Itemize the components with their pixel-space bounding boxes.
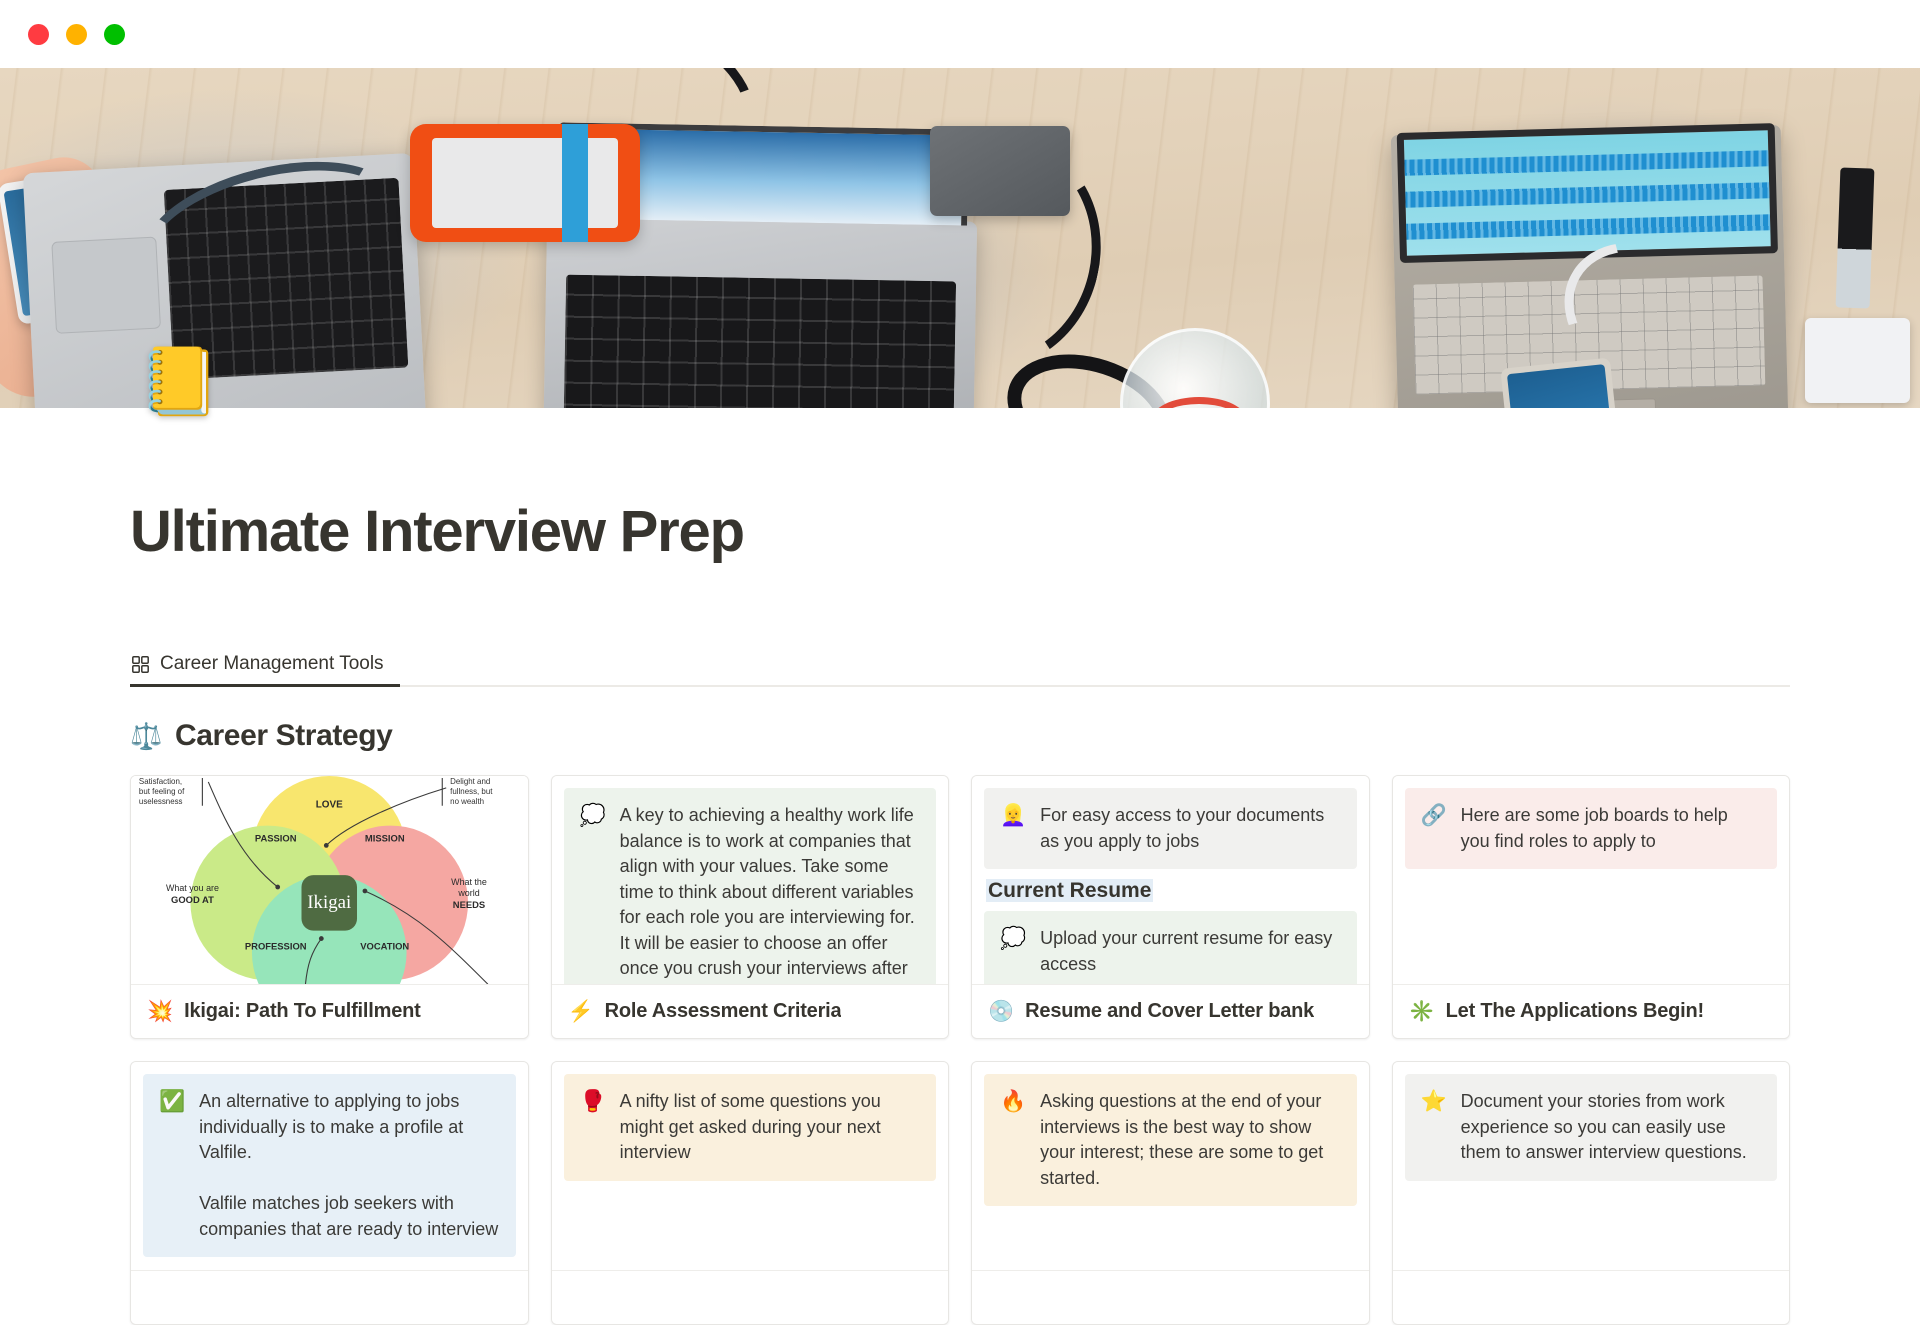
card-title: Let The Applications Begin! bbox=[1446, 1000, 1704, 1023]
card-footer: 💥 Ikigai: Path To Fulfillment bbox=[131, 984, 528, 1038]
close-button[interactable] bbox=[28, 24, 49, 45]
card-let-the-applications-begin[interactable]: 🔗 Here are some job boards to help you f… bbox=[1392, 775, 1791, 1039]
card-preview: 🔗 Here are some job boards to help you f… bbox=[1393, 776, 1790, 984]
card-title: Resume and Cover Letter bank bbox=[1025, 1000, 1314, 1023]
svg-text:Satisfaction,: Satisfaction, bbox=[139, 777, 182, 786]
page-title: Ultimate Interview Prep bbox=[130, 498, 1790, 565]
star-icon: ⭐ bbox=[1421, 1089, 1447, 1166]
grid-icon bbox=[132, 656, 149, 673]
callout-text: Document your stories from work experien… bbox=[1461, 1089, 1761, 1166]
woman-with-laptop-icon: 👱‍♀️ bbox=[1000, 803, 1026, 854]
asus-dongle-graphic bbox=[1805, 318, 1910, 403]
card-preview: 👱‍♀️ For easy access to your documents a… bbox=[972, 776, 1369, 984]
svg-text:GOOD AT: GOOD AT bbox=[171, 894, 214, 905]
svg-text:world: world bbox=[457, 888, 479, 898]
page-cover-image[interactable] bbox=[0, 68, 1920, 408]
card-questions-to-ask[interactable]: 🔥 Asking questions at the end of your in… bbox=[971, 1061, 1370, 1325]
card-preview: Ikigai LOVE PASSION MISSION PROFESSION V… bbox=[131, 776, 528, 984]
svg-text:MISSION: MISSION bbox=[365, 832, 405, 843]
svg-text:PROFESSION: PROFESSION bbox=[245, 940, 307, 951]
svg-text:NEEDS: NEEDS bbox=[453, 899, 485, 910]
card-footer: 💿 Resume and Cover Letter bank bbox=[972, 984, 1369, 1038]
page-body: Ultimate Interview Prep Career Managemen… bbox=[0, 408, 1920, 1325]
card-interview-questions[interactable]: 🥊 A nifty list of some questions you mig… bbox=[551, 1061, 950, 1325]
window-title-bar bbox=[0, 0, 1920, 68]
card-footer bbox=[972, 1270, 1369, 1324]
card-preview: 🥊 A nifty list of some questions you mig… bbox=[552, 1062, 949, 1270]
sub-heading: Current Resume bbox=[986, 879, 1153, 903]
svg-text:Delight and: Delight and bbox=[450, 777, 490, 786]
card-footer bbox=[552, 1270, 949, 1324]
ikigai-venn-diagram: Ikigai LOVE PASSION MISSION PROFESSION V… bbox=[131, 776, 528, 984]
fire-icon: 🔥 bbox=[1000, 1089, 1026, 1191]
card-valfile[interactable]: ✅ An alternative to applying to jobs ind… bbox=[130, 1061, 529, 1325]
scales-icon: ⚖️ bbox=[130, 723, 162, 749]
card-ikigai[interactable]: Ikigai LOVE PASSION MISSION PROFESSION V… bbox=[130, 775, 529, 1039]
card-footer: ✳️ Let The Applications Begin! bbox=[1393, 984, 1790, 1038]
lightning-icon: ⚡ bbox=[568, 1001, 594, 1022]
callout-text: A key to achieving a healthy work life b… bbox=[620, 803, 920, 984]
eight-spoked-asterisk-icon: ✳️ bbox=[1409, 1001, 1435, 1022]
card-stories[interactable]: ⭐ Document your stories from work experi… bbox=[1392, 1061, 1791, 1325]
link-icon: 🔗 bbox=[1421, 803, 1447, 854]
sub-heading-text: Current Resume bbox=[986, 879, 1153, 902]
card-footer bbox=[1393, 1270, 1790, 1324]
thought-balloon-icon: 💭 bbox=[580, 803, 606, 984]
callout-block: 🥊 A nifty list of some questions you mig… bbox=[564, 1074, 937, 1181]
svg-text:no wealth: no wealth bbox=[450, 797, 484, 806]
svg-text:but feeling of: but feeling of bbox=[139, 787, 185, 796]
callout-text: Asking questions at the end of your inte… bbox=[1040, 1089, 1340, 1191]
card-role-assessment-criteria[interactable]: 💭 A key to achieving a healthy work life… bbox=[551, 775, 950, 1039]
callout-text: A nifty list of some questions you might… bbox=[620, 1089, 920, 1166]
callout-text: Here are some job boards to help you fin… bbox=[1461, 803, 1761, 854]
card-preview: ⭐ Document your stories from work experi… bbox=[1393, 1062, 1790, 1270]
callout-block: 🔗 Here are some job boards to help you f… bbox=[1405, 788, 1778, 869]
card-footer: ⚡ Role Assessment Criteria bbox=[552, 984, 949, 1038]
desk-photo bbox=[0, 68, 1920, 408]
traffic-lights bbox=[28, 24, 125, 45]
svg-text:VOCATION: VOCATION bbox=[360, 940, 409, 951]
collision-icon: 💥 bbox=[147, 1001, 173, 1022]
svg-text:PASSION: PASSION bbox=[255, 832, 297, 843]
card-footer bbox=[131, 1270, 528, 1324]
section-title: Career Strategy bbox=[175, 719, 392, 753]
callout-block: 💭 A key to achieving a healthy work life… bbox=[564, 788, 937, 984]
optical-disk-icon: 💿 bbox=[988, 1001, 1014, 1022]
tab-bar: Career Management Tools bbox=[130, 643, 1790, 687]
callout-block: ⭐ Document your stories from work experi… bbox=[1405, 1074, 1778, 1181]
callout-text: Upload your current resume for easy acce… bbox=[1040, 926, 1340, 977]
card-title: Ikigai: Path To Fulfillment bbox=[184, 1000, 420, 1023]
card-grid: Ikigai LOVE PASSION MISSION PROFESSION V… bbox=[130, 775, 1790, 1325]
callout-block: ✅ An alternative to applying to jobs ind… bbox=[143, 1074, 516, 1257]
boxing-glove-icon: 🥊 bbox=[580, 1089, 606, 1166]
maximize-button[interactable] bbox=[104, 24, 125, 45]
svg-text:uselessness: uselessness bbox=[139, 797, 183, 806]
callout-block: 👱‍♀️ For easy access to your documents a… bbox=[984, 788, 1357, 869]
card-preview: 💭 A key to achieving a healthy work life… bbox=[552, 776, 949, 984]
check-mark-icon: ✅ bbox=[159, 1089, 185, 1242]
usb-stick-graphic bbox=[1836, 167, 1875, 308]
tab-label: Career Management Tools bbox=[160, 653, 384, 675]
callout-block: 🔥 Asking questions at the end of your in… bbox=[984, 1074, 1357, 1206]
thought-balloon-icon: 💭 bbox=[1000, 926, 1026, 977]
card-preview: 🔥 Asking questions at the end of your in… bbox=[972, 1062, 1369, 1270]
lacie-drive-graphic bbox=[410, 124, 640, 242]
svg-text:What the: What the bbox=[451, 877, 487, 887]
callout-text: An alternative to applying to jobs indiv… bbox=[199, 1089, 499, 1242]
svg-text:fullness, but: fullness, but bbox=[450, 787, 493, 796]
tab-career-management-tools[interactable]: Career Management Tools bbox=[130, 643, 388, 685]
svg-text:LOVE: LOVE bbox=[316, 800, 343, 811]
svg-text:What you are: What you are bbox=[166, 883, 219, 893]
card-preview: ✅ An alternative to applying to jobs ind… bbox=[131, 1062, 528, 1270]
svg-text:Ikigai: Ikigai bbox=[307, 892, 351, 913]
callout-text: For easy access to your documents as you… bbox=[1040, 803, 1340, 854]
card-title: Role Assessment Criteria bbox=[605, 1000, 842, 1023]
minimize-button[interactable] bbox=[66, 24, 87, 45]
page-icon[interactable]: 📒 bbox=[138, 348, 220, 414]
section-heading: ⚖️ Career Strategy bbox=[130, 719, 1790, 753]
callout-block: 💭 Upload your current resume for easy ac… bbox=[984, 911, 1357, 984]
card-resume-cover-letter-bank[interactable]: 👱‍♀️ For easy access to your documents a… bbox=[971, 775, 1370, 1039]
